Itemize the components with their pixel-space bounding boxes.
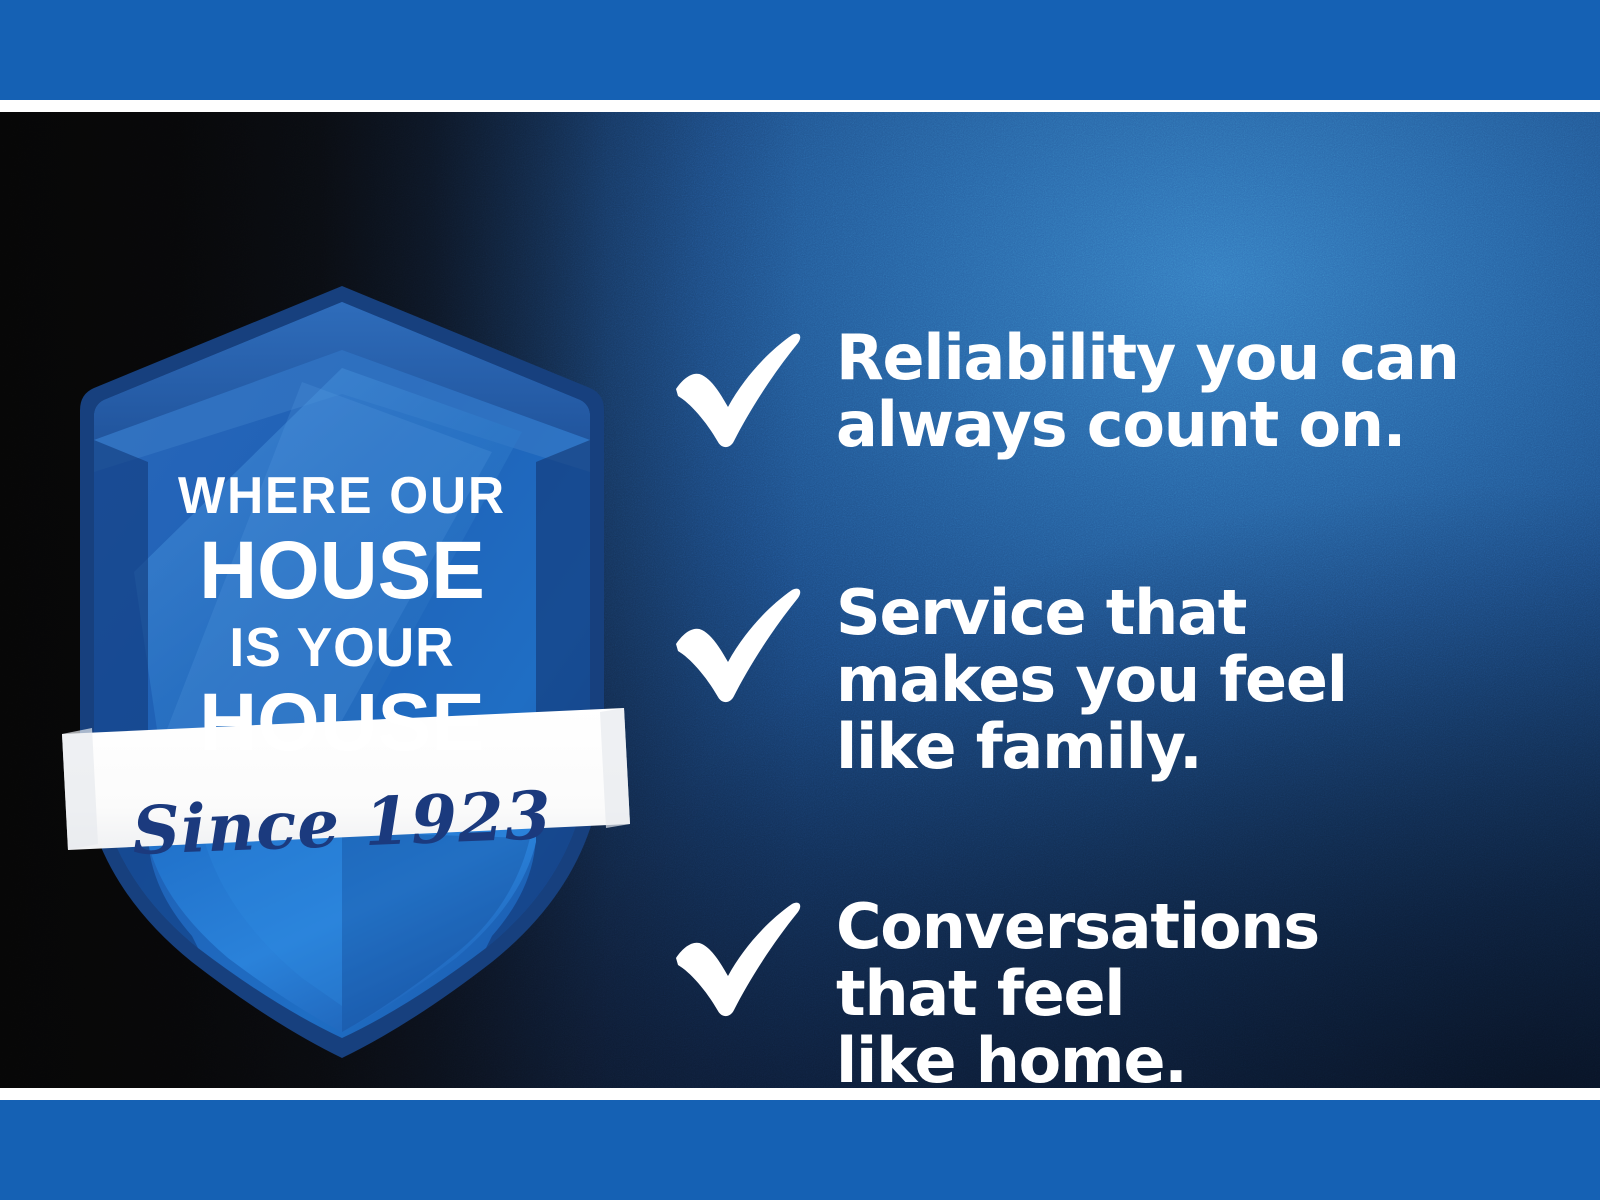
logo-banner-text: Since 1923 bbox=[51, 779, 633, 867]
bottom-brand-bar bbox=[0, 1100, 1600, 1200]
list-item-text: Service that makes you feel like family. bbox=[836, 580, 1568, 781]
list-item-text: Conversations that feel like home. bbox=[836, 894, 1568, 1088]
list-item-text: Reliability you can always count on. bbox=[836, 325, 1568, 459]
shield-logo: Where our House is your House Since 1923 bbox=[52, 272, 632, 1072]
list-item: Service that makes you feel like family. bbox=[668, 582, 1568, 781]
benefits-list: Reliability you can always count on. Ser… bbox=[668, 224, 1568, 1088]
check-icon bbox=[668, 898, 803, 1018]
logo-line-2: House bbox=[58, 530, 626, 612]
main-panel: Where our House is your House Since 1923… bbox=[0, 112, 1600, 1088]
check-icon bbox=[668, 584, 803, 704]
check-icon bbox=[668, 329, 803, 449]
list-item: Conversations that feel like home. bbox=[668, 896, 1568, 1088]
bottom-divider bbox=[0, 1088, 1600, 1100]
logo-line-3: is your bbox=[61, 620, 624, 675]
promo-poster: Where our House is your House Since 1923… bbox=[0, 0, 1600, 1200]
list-item: Reliability you can always count on. bbox=[668, 327, 1568, 459]
top-divider bbox=[0, 100, 1600, 112]
logo-line-4: House bbox=[58, 682, 626, 764]
logo-line-1: Where our bbox=[64, 470, 621, 522]
top-brand-bar bbox=[0, 0, 1600, 100]
